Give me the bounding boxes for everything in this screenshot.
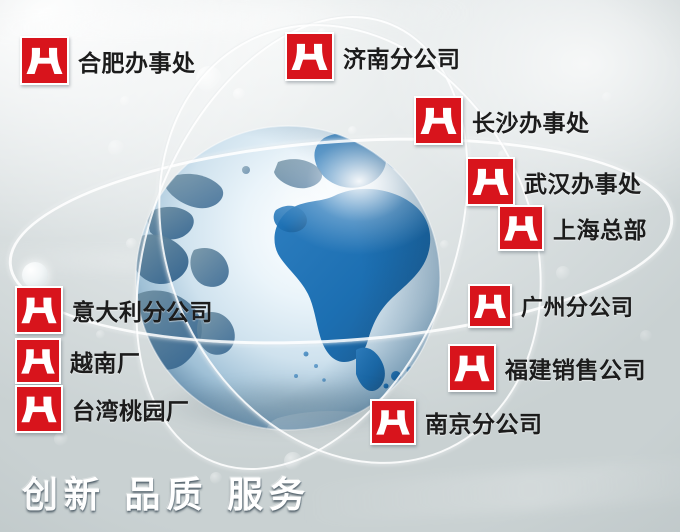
company-slogan: 创新 品质 服务 [22,466,311,518]
bridge-h-logo-icon [450,346,494,390]
branch-label-hefei: 合肥办事处 [78,44,196,78]
background-sheen-bottom [299,454,680,526]
company-logo-badge [15,286,63,334]
bokeh-dot [54,432,68,446]
company-logo-badge [468,284,512,328]
bokeh-dot [233,88,245,100]
bridge-h-logo-icon [468,159,513,204]
company-logo-badge [15,338,61,384]
company-logo-badge [15,385,63,433]
company-logo-badge [466,157,515,206]
bridge-h-logo-icon [17,340,59,382]
bokeh-dot [602,92,612,102]
branch-marker-taiwan[interactable]: 台湾桃园厂 [15,385,190,433]
branch-marker-wuhan[interactable]: 武汉办事处 [466,157,642,206]
company-logo-badge [370,399,416,445]
bridge-h-logo-icon [22,38,67,83]
branch-marker-guangzhou[interactable]: 广州分公司 [468,284,634,328]
branch-label-wuhan: 武汉办事处 [524,165,642,199]
branch-label-fujian: 福建销售公司 [505,351,646,385]
branch-marker-hefei[interactable]: 合肥办事处 [20,36,196,85]
branch-marker-fujian[interactable]: 福建销售公司 [448,344,646,392]
company-logo-badge [448,344,496,392]
branch-label-taiwan: 台湾桃园厂 [72,392,190,426]
bridge-h-logo-icon [470,286,510,326]
bridge-h-logo-icon [372,401,414,443]
bridge-h-logo-icon [416,98,461,143]
branch-label-vietnam: 越南厂 [70,344,141,378]
bokeh-dot [196,66,222,92]
company-logo-badge [20,36,69,85]
branch-label-jinan: 济南分公司 [343,40,461,74]
bokeh-dot [108,140,124,156]
branch-label-shanghai: 上海总部 [553,211,647,245]
bokeh-dot [120,96,130,106]
branch-marker-changsha[interactable]: 长沙办事处 [414,96,590,145]
bridge-h-logo-icon [17,288,61,332]
orbit-node-sphere [22,262,48,288]
branch-marker-shanghai[interactable]: 上海总部 [498,205,647,251]
branch-marker-vietnam[interactable]: 越南厂 [15,338,141,384]
bridge-h-logo-icon [500,207,542,249]
company-logo-badge [498,205,544,251]
company-logo-badge [285,32,334,81]
bokeh-dot [640,330,652,342]
branch-marker-italy[interactable]: 意大利分公司 [15,286,213,334]
bokeh-dot [556,266,570,280]
branch-label-changsha: 长沙办事处 [472,104,590,138]
branch-label-guangzhou: 广州分公司 [521,290,634,322]
branch-marker-jinan[interactable]: 济南分公司 [285,32,461,81]
branch-marker-nanjing[interactable]: 南京分公司 [370,399,543,445]
bridge-h-logo-icon [17,387,61,431]
company-logo-badge [414,96,463,145]
bridge-h-logo-icon [287,34,332,79]
branch-label-italy: 意大利分公司 [72,293,213,327]
branch-label-nanjing: 南京分公司 [425,405,543,439]
globe-branch-map-graphic: 合肥办事处济南分公司长沙办事处武汉办事处上海总部广州分公司福建销售公司南京分公司… [0,0,680,532]
